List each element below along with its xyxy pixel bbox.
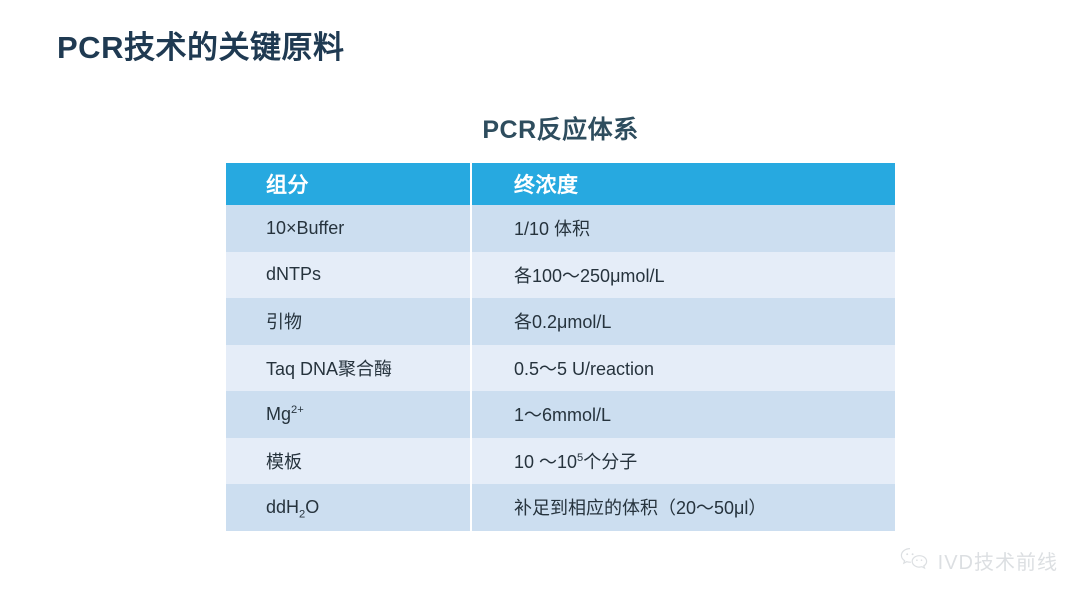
table-body: 10×Buffer 1/10 体积 dNTPs 各100～250μmol/L 引… bbox=[226, 205, 895, 531]
table-row: 10×Buffer 1/10 体积 bbox=[226, 205, 895, 252]
cell-component: Taq DNA聚合酶 bbox=[226, 345, 471, 392]
cell-component: 10×Buffer bbox=[226, 205, 471, 252]
table-row: dNTPs 各100～250μmol/L bbox=[226, 252, 895, 299]
table-header: 组分 终浓度 bbox=[226, 163, 895, 205]
cell-component-base: Mg bbox=[266, 404, 291, 424]
cell-concentration: 10 ～105个分子 bbox=[471, 438, 895, 485]
watermark: IVD技术前线 bbox=[899, 546, 1058, 575]
cell-component: 模板 bbox=[226, 438, 471, 485]
table-header-row: 组分 终浓度 bbox=[226, 163, 895, 205]
table-caption: PCR反应体系 bbox=[226, 110, 895, 146]
cell-component: dNTPs bbox=[226, 252, 471, 299]
cell-component-superscript: 2+ bbox=[291, 404, 304, 416]
table-row: 模板 10 ～105个分子 bbox=[226, 438, 895, 485]
cell-component-base: ddH bbox=[266, 497, 299, 517]
cell-component-suffix: O bbox=[305, 497, 319, 517]
cell-concentration-suffix: 个分子 bbox=[583, 452, 637, 472]
cell-concentration: 补足到相应的体积（20～50μl） bbox=[471, 484, 895, 531]
page-title: PCR技术的关键原料 bbox=[57, 22, 344, 67]
wechat-icon bbox=[899, 546, 929, 575]
cell-concentration-prefix: 10 ～10 bbox=[514, 452, 577, 472]
cell-concentration: 0.5～5 U/reaction bbox=[471, 345, 895, 392]
column-header-concentration: 终浓度 bbox=[471, 163, 895, 205]
cell-concentration: 各0.2μmol/L bbox=[471, 298, 895, 345]
table-row: Taq DNA聚合酶 0.5～5 U/reaction bbox=[226, 345, 895, 392]
pcr-reaction-system-table: 组分 终浓度 10×Buffer 1/10 体积 dNTPs 各100～250μ… bbox=[226, 163, 895, 531]
cell-concentration: 1/10 体积 bbox=[471, 205, 895, 252]
cell-concentration: 1～6mmol/L bbox=[471, 391, 895, 438]
slide-canvas: PCR技术的关键原料 PCR反应体系 组分 终浓度 10×Buffer 1/10… bbox=[0, 0, 1080, 608]
cell-concentration: 各100～250μmol/L bbox=[471, 252, 895, 299]
table-row: Mg2+ 1～6mmol/L bbox=[226, 391, 895, 438]
cell-component: Mg2+ bbox=[226, 391, 471, 438]
table-row: ddH2O 补足到相应的体积（20～50μl） bbox=[226, 484, 895, 531]
table-row: 引物 各0.2μmol/L bbox=[226, 298, 895, 345]
watermark-label: IVD技术前线 bbox=[938, 546, 1058, 575]
cell-component: ddH2O bbox=[226, 484, 471, 531]
column-header-component: 组分 bbox=[226, 163, 471, 205]
cell-component: 引物 bbox=[226, 298, 471, 345]
